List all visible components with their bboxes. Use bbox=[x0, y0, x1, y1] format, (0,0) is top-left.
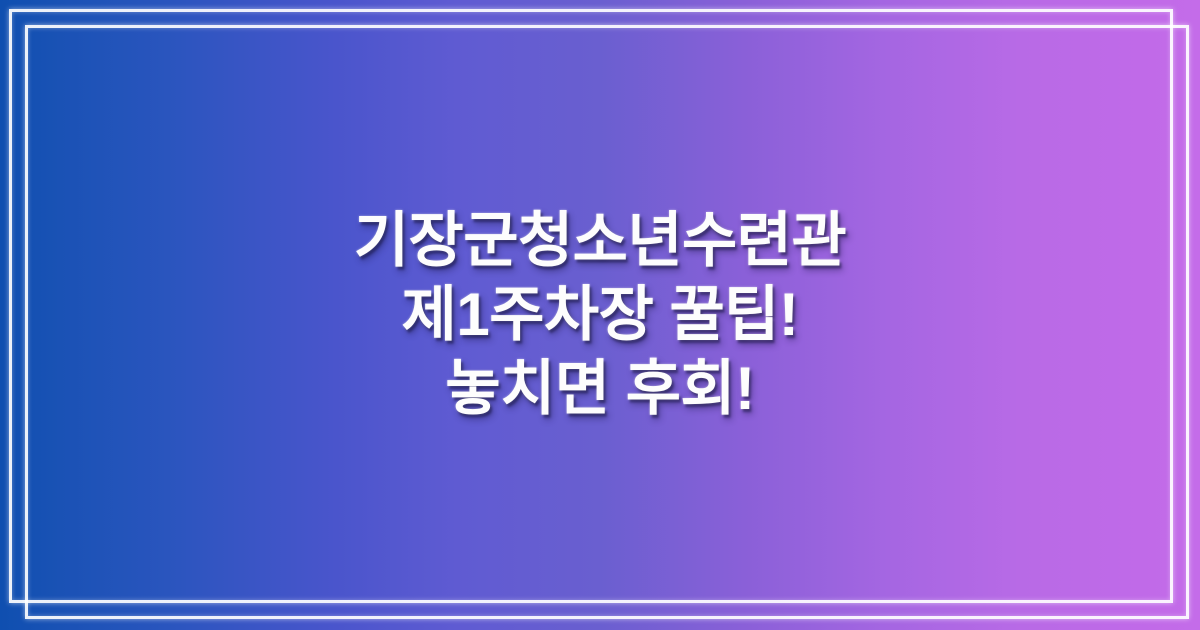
headline-line-3: 놓치면 후회! bbox=[445, 352, 754, 426]
headline-line-1: 기장군청소년수련관 bbox=[354, 204, 846, 278]
thumbnail-card: 기장군청소년수련관 제1주차장 꿀팁! 놓치면 후회! bbox=[0, 0, 1200, 630]
headline-line-2: 제1주차장 꿀팁! bbox=[402, 278, 799, 352]
headline-block: 기장군청소년수련관 제1주차장 꿀팁! 놓치면 후회! bbox=[0, 0, 1200, 630]
